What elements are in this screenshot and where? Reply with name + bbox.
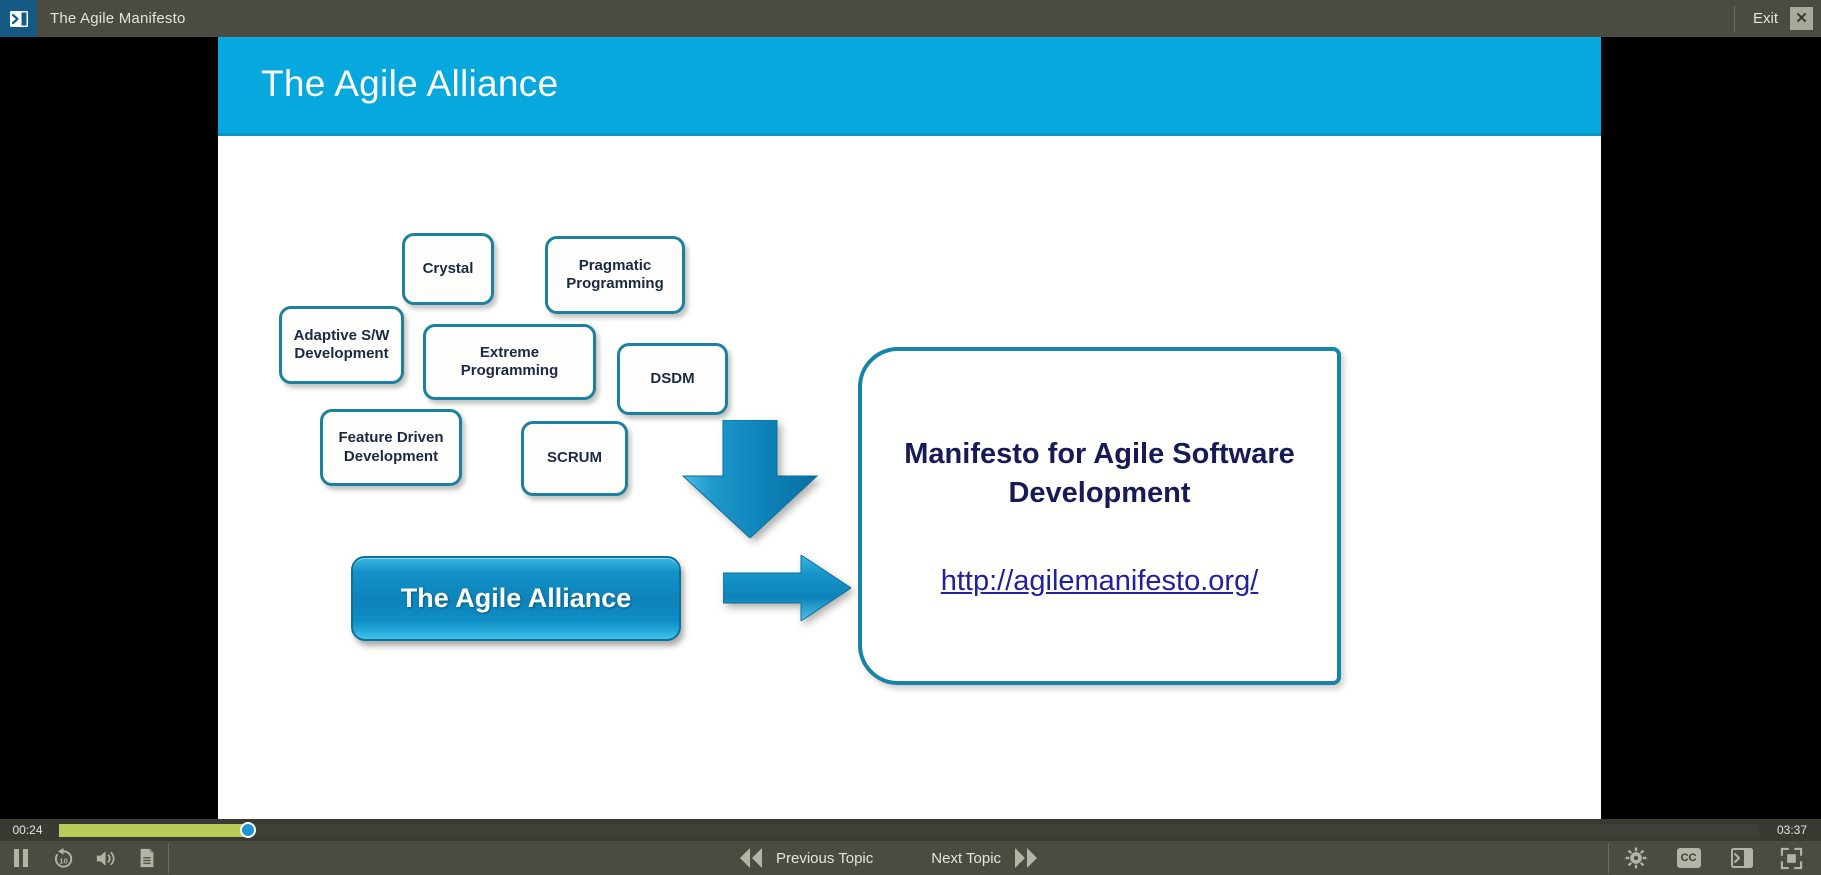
close-icon[interactable]: ✕ bbox=[1790, 7, 1813, 30]
gear-icon[interactable] bbox=[1609, 841, 1662, 875]
method-box: Extreme Programming bbox=[423, 324, 596, 400]
previous-topic-label: Previous Topic bbox=[776, 850, 873, 867]
method-box: Adaptive S/WDevelopment bbox=[279, 306, 404, 384]
volume-icon[interactable] bbox=[84, 841, 126, 875]
slide-header-rule bbox=[218, 133, 1601, 136]
cc-icon-box: CC bbox=[1677, 848, 1701, 868]
method-box: DSDM bbox=[617, 343, 728, 415]
slide: The Agile Alliance CrystalPragmaticProgr… bbox=[218, 37, 1601, 819]
player-panel-icon[interactable] bbox=[0, 0, 37, 37]
manifesto-panel: Manifesto for Agile Software Development… bbox=[858, 347, 1341, 685]
slide-title: The Agile Alliance bbox=[261, 63, 558, 105]
svg-text:10: 10 bbox=[59, 856, 68, 865]
fast-forward-icon bbox=[1013, 848, 1039, 868]
next-topic-button[interactable]: Next Topic bbox=[931, 848, 1039, 868]
pause-icon[interactable] bbox=[0, 841, 42, 875]
title-bar: The Agile Manifesto Exit ✕ bbox=[0, 0, 1821, 37]
agile-alliance-pill-label: The Agile Alliance bbox=[401, 583, 632, 614]
slide-stage: The Agile Alliance CrystalPragmaticProgr… bbox=[0, 37, 1821, 819]
window-title: The Agile Manifesto bbox=[50, 10, 186, 27]
previous-topic-button[interactable]: Previous Topic bbox=[738, 848, 873, 868]
exit-button[interactable]: Exit bbox=[1753, 10, 1778, 27]
method-box: Crystal bbox=[402, 233, 494, 305]
down-arrow-icon bbox=[671, 420, 829, 538]
rewind-icon bbox=[738, 848, 764, 868]
elapsed-time: 00:24 bbox=[0, 823, 55, 837]
duration-time: 03:37 bbox=[1763, 823, 1821, 837]
panel-toggle-icon[interactable] bbox=[1715, 841, 1768, 875]
manifesto-link[interactable]: http://agilemanifesto.org/ bbox=[892, 565, 1307, 598]
seek-row: 00:24 03:37 bbox=[0, 819, 1821, 841]
title-bar-actions: Exit ✕ bbox=[1734, 0, 1821, 37]
player-window: The Agile Manifesto Exit ✕ The Agile All… bbox=[0, 0, 1821, 875]
seek-track-fill bbox=[59, 824, 248, 837]
fullscreen-icon[interactable] bbox=[1768, 841, 1821, 875]
cc-icon[interactable]: CC bbox=[1662, 841, 1715, 875]
transcript-icon[interactable] bbox=[126, 841, 168, 875]
player-panel-glyph bbox=[9, 9, 29, 29]
manifesto-title: Manifesto for Agile Software Development bbox=[892, 435, 1307, 512]
method-box: SCRUM bbox=[521, 421, 628, 496]
next-topic-label: Next Topic bbox=[931, 850, 1001, 867]
agile-alliance-pill: The Agile Alliance bbox=[351, 556, 681, 641]
button-row: 10 bbox=[0, 841, 1821, 875]
right-arrow-icon bbox=[723, 555, 851, 621]
cc-label: CC bbox=[1681, 852, 1697, 864]
seek-slider[interactable] bbox=[59, 824, 1759, 837]
divider bbox=[168, 843, 169, 873]
seek-track-background bbox=[59, 824, 1759, 837]
method-box: Feature DrivenDevelopment bbox=[320, 409, 462, 486]
player-control-bar: 00:24 03:37 10 bbox=[0, 819, 1821, 875]
seek-knob[interactable] bbox=[240, 822, 256, 838]
replay-10-icon[interactable]: 10 bbox=[42, 841, 84, 875]
divider bbox=[1734, 6, 1735, 32]
method-box: PragmaticProgramming bbox=[545, 236, 685, 314]
